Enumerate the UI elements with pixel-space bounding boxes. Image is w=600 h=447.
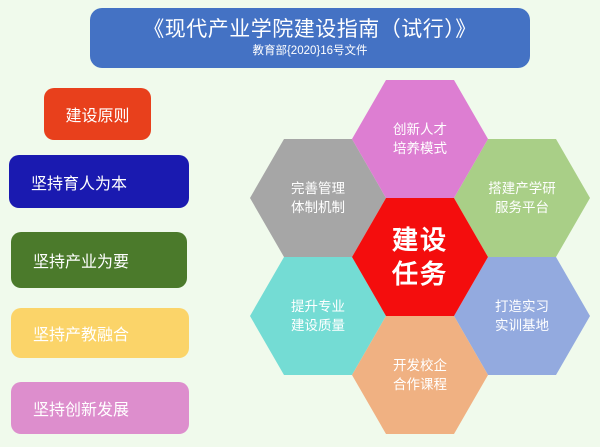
principle-label: 建设原则 bbox=[65, 102, 129, 126]
page-subtitle: 教育部{2020}16号文件 bbox=[252, 44, 367, 59]
principle-item-3[interactable]: 坚持产教融合 bbox=[11, 308, 189, 358]
hexagon-label-line2: 合作课程 bbox=[393, 375, 447, 394]
principle-item-2[interactable]: 坚持产业为要 bbox=[11, 232, 187, 288]
hexagon-label-line2: 建设质量 bbox=[291, 316, 345, 335]
principle-item-0[interactable]: 建设原则 bbox=[44, 88, 151, 140]
hexagon-label-line1: 提升专业 bbox=[291, 297, 345, 316]
hexagon-label-line2: 培养模式 bbox=[393, 139, 447, 158]
hexagon-label-line1: 建设 bbox=[392, 223, 448, 257]
hexagon-label-line2: 实训基地 bbox=[495, 316, 549, 335]
principle-label: 坚持育人为本 bbox=[31, 170, 127, 194]
principle-item-4[interactable]: 坚持创新发展 bbox=[11, 382, 189, 434]
principles-list: 建设原则 坚持育人为本 坚持产业为要 坚持产教融合 坚持创新发展 bbox=[0, 0, 230, 447]
hexagon-label-line1: 搭建产学研 bbox=[488, 179, 556, 198]
hexagon-cluster: 完善管理 体制机制 提升专业 建设质量 搭建产学研 服务平台 打造实习 实训基地… bbox=[240, 78, 600, 447]
principle-item-1[interactable]: 坚持育人为本 bbox=[9, 155, 189, 208]
hexagon-label-line2: 服务平台 bbox=[495, 198, 549, 217]
hexagon-label-line1: 打造实习 bbox=[495, 297, 549, 316]
principle-label: 坚持产业为要 bbox=[33, 248, 129, 272]
principle-label: 坚持产教融合 bbox=[33, 321, 129, 345]
hexagon-label-line1: 完善管理 bbox=[291, 179, 345, 198]
hexagon-label-line1: 开发校企 bbox=[393, 356, 447, 375]
hexagon-label-line1: 创新人才 bbox=[393, 120, 447, 139]
hexagon-label-line2: 体制机制 bbox=[291, 198, 345, 217]
hexagon-label-line2: 任务 bbox=[392, 257, 448, 291]
principle-label: 坚持创新发展 bbox=[33, 396, 129, 420]
